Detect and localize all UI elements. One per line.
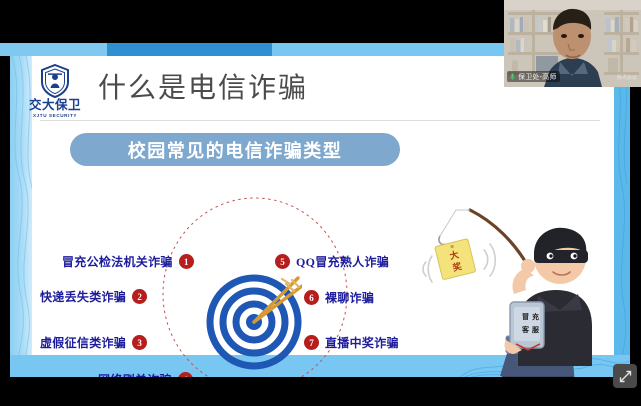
scam-illustration: 大 奖 网络平台: [410, 206, 600, 377]
header-divider: [40, 120, 600, 121]
fraud-type-number: 4: [178, 372, 193, 377]
phone-label-2: 客: [521, 325, 530, 334]
meeting-screen-share: 交大保卫 XJTU SECURITY 什么是电信诈骗 校园常见的电信诈骗类型: [0, 0, 641, 406]
fraud-type-label: 网络刷单诈骗: [98, 371, 172, 377]
fraud-type-number: 7: [304, 335, 319, 350]
fraud-type-label: 冒充公检法机关诈骗: [62, 253, 173, 270]
expand-diagonal-icon: [619, 370, 632, 383]
fraud-type-number: 5: [275, 254, 290, 269]
slide-title: 什么是电信诈骗: [98, 66, 308, 106]
fraud-type-item-4[interactable]: 网络刷单诈骗 4: [98, 371, 193, 377]
phone-with-label: 冒 充 客 服: [504, 302, 544, 354]
top-bar-segment-left: [0, 43, 107, 56]
fraud-type-number: 2: [132, 289, 147, 304]
participant-name-badge: 保卫处-高师: [507, 71, 560, 82]
phone-label-1: 冒: [522, 312, 529, 321]
xjtu-security-logo: 交大保卫 XJTU SECURITY: [24, 64, 86, 120]
participant-name: 保卫处-高师: [518, 72, 557, 82]
webcam-pip[interactable]: 保卫处-高师 腾讯会议: [504, 0, 641, 87]
fraud-type-number: 3: [132, 335, 147, 350]
fraud-type-item-5[interactable]: 5 QQ冒充熟人诈骗: [275, 253, 389, 270]
phone-label-1b: 充: [532, 312, 539, 321]
logo-cn-text: 交大保卫: [24, 99, 86, 112]
fraud-type-item-6[interactable]: 6 裸聊诈骗: [304, 289, 374, 306]
fraud-type-label: 直播中奖诈骗: [325, 334, 399, 351]
fraud-type-label: 裸聊诈骗: [325, 289, 374, 306]
fraud-type-label: QQ冒充熟人诈骗: [296, 253, 389, 270]
section-banner-label: 校园常见的电信诈骗类型: [128, 137, 343, 163]
microphone-icon: [510, 73, 515, 81]
presentation-slide: 交大保卫 XJTU SECURITY 什么是电信诈骗 校园常见的电信诈骗类型: [10, 56, 630, 377]
fraud-type-item-7[interactable]: 7 直播中奖诈骗: [304, 334, 399, 351]
top-bar-segment-middle: [107, 43, 272, 56]
fraud-type-item-3[interactable]: 虚假征信类诈骗 3: [40, 334, 147, 351]
fraud-type-label: 快递丢失类诈骗: [40, 288, 126, 305]
phone-label-2b: 服: [532, 325, 540, 334]
fraud-type-item-1[interactable]: 冒充公检法机关诈骗 1: [62, 253, 194, 270]
shield-icon: [40, 64, 70, 98]
fraud-type-number: 1: [179, 254, 194, 269]
section-banner: 校园常见的电信诈骗类型: [70, 133, 400, 166]
fraud-type-item-2[interactable]: 快递丢失类诈骗 2: [40, 288, 147, 305]
pip-watermark: 腾讯会议: [617, 74, 637, 81]
fraud-type-label: 虚假征信类诈骗: [40, 334, 126, 351]
logo-en-text: XJTU SECURITY: [24, 113, 86, 118]
fullscreen-toggle-button[interactable]: [613, 364, 637, 388]
prize-tag: 大 奖: [435, 239, 476, 280]
target-bullseye-icon: [206, 274, 302, 370]
fraud-type-number: 6: [304, 290, 319, 305]
